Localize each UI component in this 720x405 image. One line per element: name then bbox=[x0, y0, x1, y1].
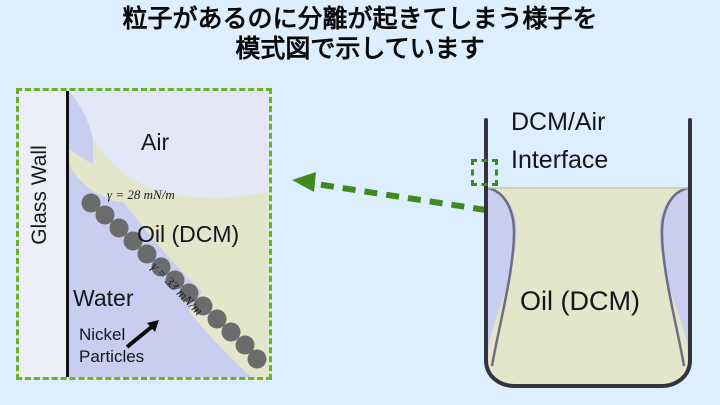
page-title-line-2: 模式図で示しています bbox=[0, 34, 720, 64]
callout-arrowhead-icon bbox=[292, 172, 316, 192]
label-air: Air bbox=[141, 129, 169, 156]
beaker-overview-panel: DCM/Air Interface Oil (DCM) bbox=[466, 104, 710, 392]
label-nickel-particles-line-2: Particles bbox=[79, 347, 144, 367]
page-title-line-1: 粒子があるのに分離が起きてしまう様子を bbox=[0, 4, 720, 34]
glass-wall-line bbox=[66, 91, 69, 377]
zoom-region-box bbox=[471, 159, 498, 186]
label-glass-wall: Glass Wall bbox=[28, 130, 52, 260]
zoom-callout-arrow bbox=[286, 166, 496, 226]
page-title: 粒子があるのに分離が起きてしまう様子を 模式図で示しています bbox=[0, 4, 720, 64]
schematic-inner: Glass Wall Air γ = 28 mN/m Oil (DCM) γ =… bbox=[19, 91, 269, 377]
label-water: Water bbox=[73, 285, 134, 312]
label-surface-tension-air-oil: γ = 28 mN/m bbox=[107, 187, 175, 203]
label-dcm-air-interface-line-1: DCM/Air bbox=[511, 108, 605, 137]
callout-dashed-line bbox=[316, 184, 486, 210]
label-dcm-air-interface-line-2: Interface bbox=[511, 146, 608, 175]
label-nickel-particles-line-1: Nickel bbox=[79, 325, 125, 345]
label-beaker-oil-dcm: Oil (DCM) bbox=[520, 286, 640, 317]
label-oil-dcm: Oil (DCM) bbox=[137, 221, 239, 248]
schematic-close-up-panel: Glass Wall Air γ = 28 mN/m Oil (DCM) γ =… bbox=[16, 88, 272, 380]
